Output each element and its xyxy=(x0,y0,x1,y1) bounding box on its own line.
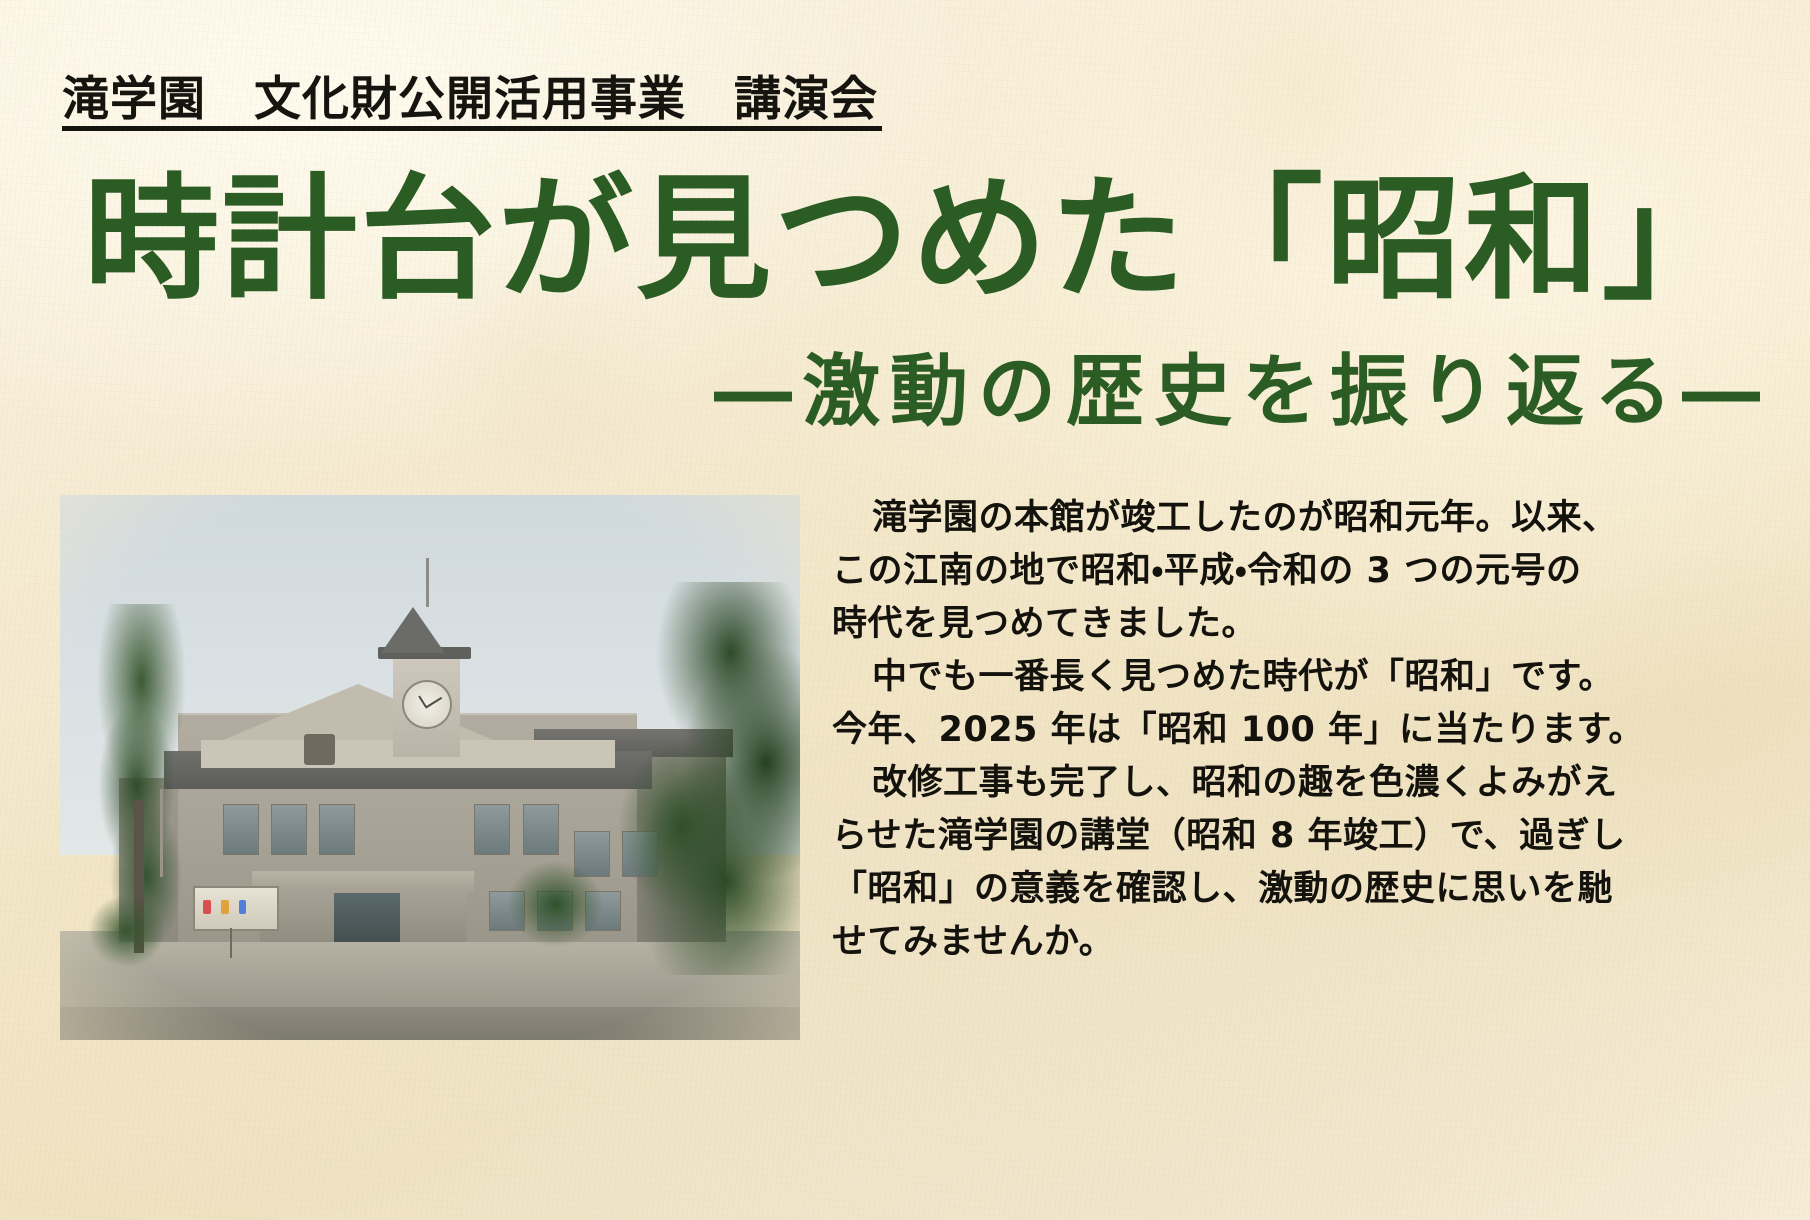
pediment-gable xyxy=(208,684,508,746)
shrub xyxy=(75,877,179,975)
window xyxy=(319,804,355,855)
poster-canvas: 滝学園 文化財公開活用事業 講演会 時計台が見つめた「昭和」 ―激動の歴史を振り… xyxy=(0,0,1810,1220)
page-subtitle: ―激動の歴史を振り返る― xyxy=(0,350,1770,436)
signboard-leg xyxy=(230,928,232,958)
body-line: この江南の地で昭和・平成・令和の 3 つの元号の xyxy=(832,545,1572,598)
shrub xyxy=(489,844,622,964)
body-line: らせた滝学園の講堂（昭和 8 年竣工）で、過ぎし xyxy=(832,810,1572,863)
page-title: 時計台が見つめた「昭和」 xyxy=(84,168,1740,311)
body-line: せてみませんか。 xyxy=(832,916,1572,969)
pine-tree-right xyxy=(593,582,800,974)
entrance-doorway xyxy=(334,893,401,942)
body-line: 今年、2025 年は「昭和 100 年」に当たります。 xyxy=(832,704,1572,757)
clock-tower-roof xyxy=(381,607,445,653)
spire-icon xyxy=(426,558,429,607)
school-crest-icon xyxy=(304,734,335,765)
body-copy: 滝学園の本館が竣工したのが昭和元年。以来、 この江南の地で昭和・平成・令和の 3… xyxy=(832,492,1572,969)
sign-color-block xyxy=(239,900,246,914)
body-line: 時代を見つめてきました。 xyxy=(832,598,1572,651)
ground-foreground-band xyxy=(60,1007,800,1040)
eyebrow-underline xyxy=(62,126,882,131)
paragraph: 滝学園の本館が竣工したのが昭和元年。以来、 この江南の地で昭和・平成・令和の 3… xyxy=(832,492,1572,651)
eyebrow-heading: 滝学園 文化財公開活用事業 講演会 xyxy=(62,60,878,129)
paragraph: 中でも一番長く見つめた時代が「昭和」です。 今年、2025 年は「昭和 100 … xyxy=(832,651,1572,757)
body-line: 滝学園の本館が竣工したのが昭和元年。以来、 xyxy=(832,492,1572,545)
sign-color-block xyxy=(221,900,228,914)
campus-signboard xyxy=(193,886,278,931)
body-line: 改修工事も完了し、昭和の趣を色濃くよみがえ xyxy=(832,757,1572,810)
flagpole-icon xyxy=(160,789,163,876)
window xyxy=(271,804,307,855)
building-photo-image xyxy=(60,495,800,1040)
window xyxy=(223,804,259,855)
body-line: 「昭和」の意義を確認し、激動の歴史に思いを馳 xyxy=(832,863,1572,916)
body-line: 中でも一番長く見つめた時代が「昭和」です。 xyxy=(832,651,1572,704)
paragraph: 改修工事も完了し、昭和の趣を色濃くよみがえ らせた滝学園の講堂（昭和 8 年竣工… xyxy=(832,757,1572,969)
sign-color-block xyxy=(203,900,210,914)
building-photo xyxy=(60,495,800,1040)
